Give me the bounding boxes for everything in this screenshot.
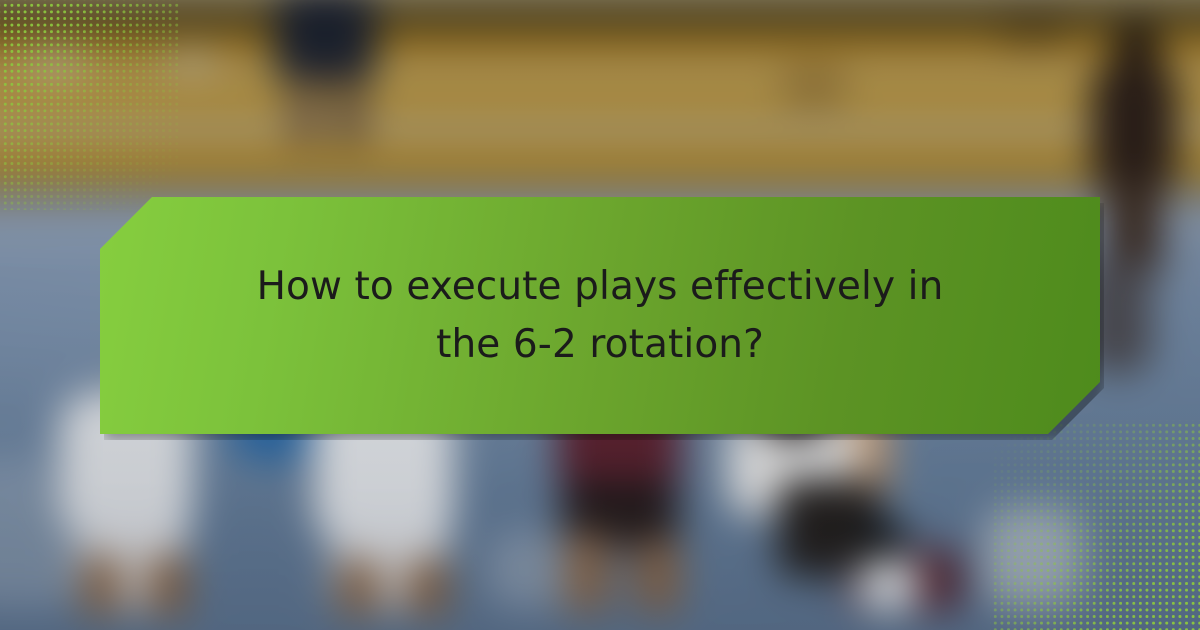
title-banner: How to execute plays effectively in the …: [100, 197, 1100, 434]
social-card: How to execute plays effectively in the …: [0, 0, 1200, 630]
page-title: How to execute plays effectively in the …: [220, 258, 980, 373]
